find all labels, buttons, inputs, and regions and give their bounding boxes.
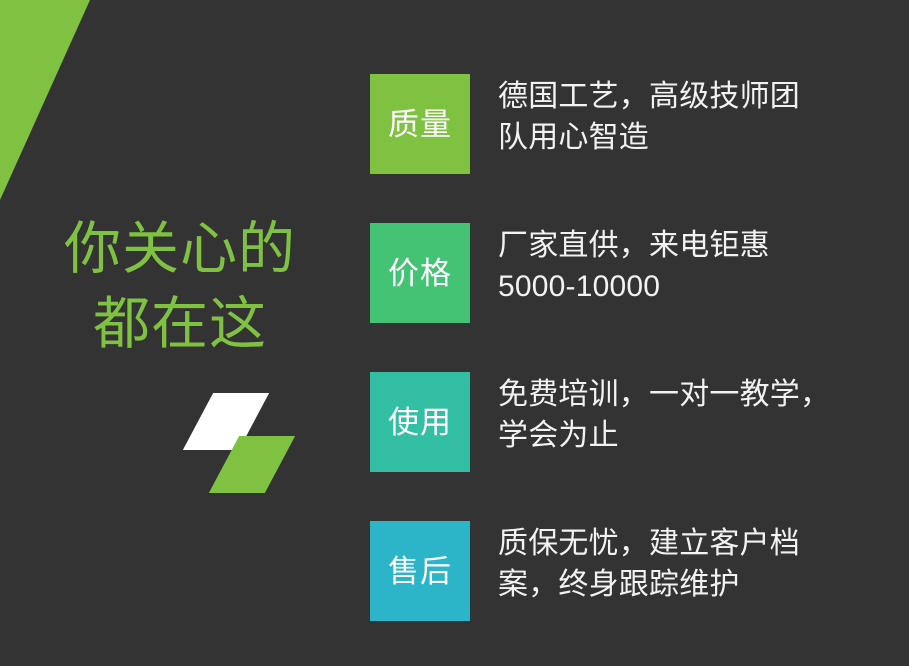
feature-tag-price: 价格	[370, 223, 470, 323]
list-item: 质量 德国工艺，高级技师团 队用心智造	[370, 74, 909, 174]
slide-canvas: 你关心的 都在这 质量 德国工艺，高级技师团 队用心智造 价格 厂家直供，来电钜…	[0, 0, 909, 666]
list-item: 售后 质保无忧，建立客户档 案，终身跟踪维护	[370, 521, 909, 621]
feature-description-price: 厂家直供，来电钜惠 5000-10000	[498, 223, 909, 308]
feature-tag-usage: 使用	[370, 372, 470, 472]
feature-description-quality: 德国工艺，高级技师团 队用心智造	[498, 74, 909, 159]
brand-logo	[176, 393, 296, 493]
feature-description-usage: 免费培训，一对一教学， 学会为止	[498, 372, 909, 457]
list-item: 使用 免费培训，一对一教学， 学会为止	[370, 372, 909, 472]
feature-description-aftersales: 质保无忧，建立客户档 案，终身跟踪维护	[498, 521, 909, 606]
list-item: 价格 厂家直供，来电钜惠 5000-10000	[370, 223, 909, 323]
feature-tag-aftersales: 售后	[370, 521, 470, 621]
feature-list: 质量 德国工艺，高级技师团 队用心智造 价格 厂家直供，来电钜惠 5000-10…	[370, 0, 909, 666]
feature-tag-quality: 质量	[370, 74, 470, 174]
left-column: 你关心的 都在这	[0, 0, 360, 666]
page-title: 你关心的 都在这	[0, 212, 360, 362]
